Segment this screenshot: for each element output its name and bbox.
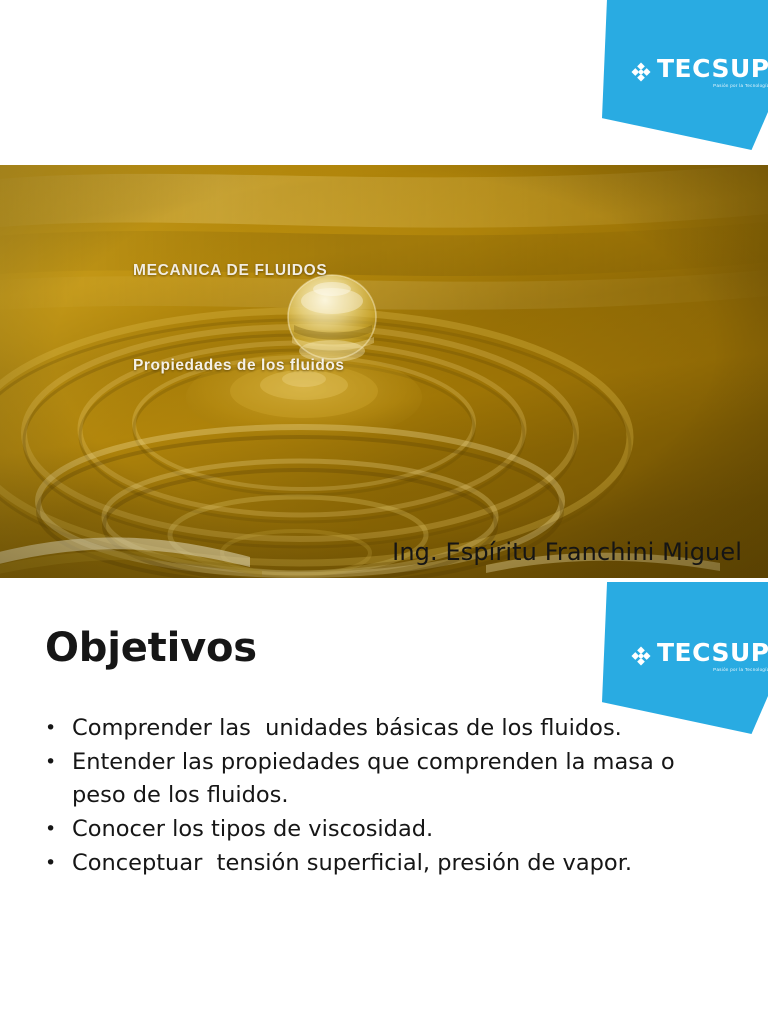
tecsup-banner-slide1: TECSUP Pasión por la Tecnología xyxy=(602,0,768,150)
page-title: Objetivos xyxy=(45,628,257,668)
objectives-list: • Comprender las unidades básicas de los… xyxy=(40,712,730,881)
bullet-marker-icon: • xyxy=(40,847,72,880)
tecsup-wordmark: TECSUP xyxy=(657,640,768,665)
list-item-label: Entender las propiedades que comprenden … xyxy=(72,746,730,812)
slide-title: MECANICA DE FLUIDOS Propiedades de los f… xyxy=(0,0,768,578)
tecsup-tagline: Pasión por la Tecnología xyxy=(713,84,768,88)
slide-objectives: Objetivos • Comprender las unidades bási… xyxy=(0,578,768,1024)
list-item: • Conceptuar tensión superficial, presió… xyxy=(40,847,730,880)
list-item: • Comprender las unidades básicas de los… xyxy=(40,712,730,745)
list-item-label: Conceptuar tensión superficial, presión … xyxy=(72,847,730,880)
tecsup-logo-slide2: TECSUP Pasión por la Tecnología xyxy=(630,640,768,672)
slide-subtitle-text: Propiedades de los fluidos xyxy=(133,357,345,375)
bullet-marker-icon: • xyxy=(40,746,72,779)
bullet-marker-icon: • xyxy=(40,813,72,846)
author-name: Ing. Espíritu Franchini Miguel xyxy=(392,538,742,566)
list-item: • Entender las propiedades que comprende… xyxy=(40,746,730,812)
tecsup-tagline: Pasión por la Tecnología xyxy=(713,668,768,672)
tecsup-pinwheel-mark-icon xyxy=(630,61,652,83)
tecsup-wordmark: TECSUP xyxy=(657,56,768,81)
list-item-label: Comprender las unidades básicas de los f… xyxy=(72,712,730,745)
tecsup-logo-slide1: TECSUP Pasión por la Tecnología xyxy=(630,56,768,88)
fluid-photograph xyxy=(0,165,768,578)
presentation-page: MECANICA DE FLUIDOS Propiedades de los f… xyxy=(0,0,768,1024)
bullet-marker-icon: • xyxy=(40,712,72,745)
tecsup-pinwheel-mark-icon xyxy=(630,645,652,667)
list-item: • Conocer los tipos de viscosidad. xyxy=(40,813,730,846)
slide-title-text: MECANICA DE FLUIDOS xyxy=(133,262,327,280)
list-item-label: Conocer los tipos de viscosidad. xyxy=(72,813,730,846)
